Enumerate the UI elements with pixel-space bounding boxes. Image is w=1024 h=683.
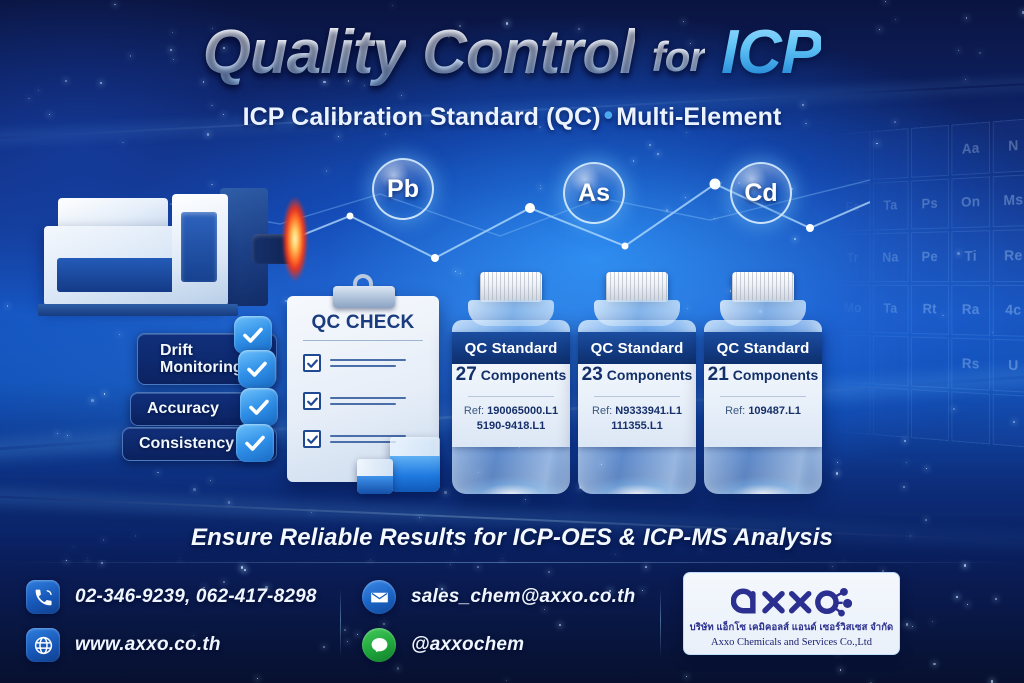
component-count-unit: Components — [607, 367, 693, 383]
periodic-cell — [836, 131, 871, 181]
periodic-cell: Rs — [951, 338, 990, 390]
phone-icon — [26, 580, 60, 614]
component-count-unit: Components — [733, 367, 819, 383]
periodic-cell — [911, 125, 949, 177]
subtitle-left: ICP Calibration Standard (QC) — [243, 103, 601, 131]
bottle-ref-line-1: Ref: 109487.L1 — [704, 404, 822, 419]
component-count-value: 23 — [582, 364, 603, 386]
bottle-label-2: QC Standard 23 Components Ref: N9333941.… — [578, 332, 696, 447]
title-word-control: Control — [422, 18, 635, 87]
periodic-cell: Fe — [836, 182, 871, 231]
bottle-label-header: QC Standard — [578, 332, 696, 364]
periodic-cell — [873, 387, 909, 438]
page-title: Quality Control for ICP — [0, 22, 1024, 84]
contact-email-text: sales_chem@axxo.co.th — [411, 586, 635, 608]
element-symbol-pb: Pb — [387, 175, 419, 204]
periodic-cell: Ti — [951, 230, 990, 281]
periodic-cell: Re — [993, 229, 1024, 282]
periodic-cell: Ms — [993, 174, 1024, 228]
bottle-label-header: QC Standard — [704, 332, 822, 364]
poster-canvas: AaNFeTaPsOnMsTrNaPeTiReMoTaRtRa4cRsU Qua… — [0, 0, 1024, 683]
logo-english-company-name: Axxo Chemicals and Services Co.,Ltd — [711, 637, 872, 648]
periodic-cell: Pe — [911, 231, 949, 281]
element-bubble-as: As — [563, 162, 625, 224]
contact-row-line[interactable]: @axxochem — [362, 628, 635, 662]
sample-vial-illustration — [357, 459, 393, 494]
instrument-base — [38, 304, 238, 316]
periodic-cell — [911, 337, 949, 388]
contact-website-text: www.axxo.co.th — [75, 634, 221, 656]
periodic-cell: Rt — [911, 284, 949, 334]
bottle-label-3: QC Standard 21 Components Ref: 109487.L1 — [704, 332, 822, 447]
footer-divider-1 — [340, 588, 341, 658]
clipboard-clip-icon — [333, 286, 395, 308]
tagline-band: Ensure Reliable Results for ICP-OES & IC… — [0, 516, 1024, 560]
axxo-logo-mark-icon — [731, 583, 852, 619]
qc-standard-bottle-1[interactable]: QC Standard 27 Components Ref: 190065000… — [452, 272, 570, 494]
feature-label-accuracy: Accuracy — [147, 400, 219, 418]
periodic-cell — [951, 391, 990, 445]
bottle-component-count: 27 Components — [452, 364, 570, 396]
clipboard-checklist-row — [303, 354, 406, 372]
bottle-reference-block: Ref: N9333941.L1 111355.L1 — [578, 397, 696, 434]
contact-phone-text: 02-346-9239, 062-417-8298 — [75, 586, 317, 608]
contact-column-right: sales_chem@axxo.co.th @axxochem — [362, 580, 635, 662]
periodic-cell: Ta — [873, 180, 909, 230]
subtitle-right: Multi-Element — [616, 103, 781, 131]
element-symbol-cd: Cd — [744, 179, 777, 208]
contact-column-left: 02-346-9239, 062-417-8298 www.axxo.co.th — [26, 580, 317, 662]
bottle-cap-icon — [606, 272, 668, 302]
component-count-value: 21 — [708, 364, 729, 386]
clipboard-title: QC CHECK — [287, 312, 439, 334]
periodic-cell: Ra — [951, 284, 990, 335]
component-count-value: 27 — [456, 364, 477, 386]
logo-thai-company-name: บริษัท แอ็กโซ เคมิคอลส์ แอนด์ เซอร์วิสเซ… — [690, 620, 894, 635]
ref-prefix: Ref: — [464, 405, 484, 417]
title-word-icp: ICP — [721, 18, 821, 87]
checklist-text-lines — [330, 397, 406, 405]
checkbox-icon — [303, 354, 321, 372]
qc-standard-bottle-2[interactable]: QC Standard 23 Components Ref: N9333941.… — [578, 272, 696, 494]
contact-row-website[interactable]: www.axxo.co.th — [26, 628, 317, 662]
bottle-label-1: QC Standard 27 Components Ref: 190065000… — [452, 332, 570, 447]
element-symbol-as: As — [578, 179, 610, 208]
envelope-icon — [362, 580, 396, 614]
bottle-label-header: QC Standard — [452, 332, 570, 364]
title-block: Quality Control for ICP ICP Calibration … — [0, 22, 1024, 132]
feature-label-consistency: Consistency — [139, 435, 234, 453]
periodic-cell — [836, 334, 871, 383]
qc-standard-bottle-3[interactable]: QC Standard 21 Components Ref: 109487.L1 — [704, 272, 822, 494]
checklist-text-lines — [330, 359, 406, 367]
checkbox-icon — [303, 430, 321, 448]
component-count-unit: Components — [481, 367, 567, 383]
checkmark-icon-1 — [234, 316, 272, 354]
icp-instrument-illustration — [24, 188, 314, 338]
bottle-reference-block: Ref: 109487.L1 — [704, 397, 822, 419]
bottle-ref-line-1: Ref: 190065000.L1 — [452, 404, 570, 419]
title-word-quality: Quality — [203, 18, 406, 87]
beaker-illustration — [390, 437, 440, 492]
clipboard-divider — [303, 340, 423, 341]
element-bubble-pb: Pb — [372, 158, 434, 220]
subtitle-bullet-icon: • — [601, 100, 617, 130]
ref-value-1: 190065000.L1 — [487, 405, 558, 417]
tagline-text: Ensure Reliable Results for ICP-OES & IC… — [191, 524, 833, 552]
periodic-cell: Ps — [911, 178, 949, 229]
periodic-cell: Tr — [836, 233, 871, 281]
contact-line-text: @axxochem — [411, 634, 524, 656]
periodic-cell: On — [951, 176, 990, 228]
ref-prefix: Ref: — [592, 405, 612, 417]
bottle-reference-block: Ref: 190065000.L1 5190-9418.L1 — [452, 397, 570, 434]
periodic-cell — [993, 393, 1024, 448]
line-chat-icon — [362, 628, 396, 662]
page-subtitle: ICP Calibration Standard (QC)•Multi-Elem… — [0, 100, 1024, 132]
periodic-cell: Na — [873, 232, 909, 281]
periodic-cell: Ta — [873, 284, 909, 333]
clipboard-checklist-row — [303, 392, 406, 410]
contact-row-phone[interactable]: 02-346-9239, 062-417-8298 — [26, 580, 317, 614]
bottle-component-count: 21 Components — [704, 364, 822, 396]
ref-prefix: Ref: — [725, 405, 745, 417]
bottle-component-count: 23 Components — [578, 364, 696, 396]
feature-label-monitoring: Monitoring — [160, 359, 243, 376]
element-bubble-cd: Cd — [730, 162, 792, 224]
title-word-for: for — [652, 33, 705, 80]
checkmark-icon-3 — [240, 388, 278, 426]
checkmark-icon-2 — [238, 350, 276, 388]
periodic-cell: Mo — [836, 284, 871, 332]
bottle-ref-line-2: 111355.L1 — [578, 419, 696, 434]
periodic-cell: U — [993, 339, 1024, 393]
checkbox-icon — [303, 392, 321, 410]
instrument-display-panel — [172, 194, 228, 306]
periodic-cell — [873, 128, 909, 179]
bottle-ref-line-1: Ref: N9333941.L1 — [578, 404, 696, 419]
bottle-cap-icon — [480, 272, 542, 302]
periodic-table-background: AaNFeTaPsOnMsTrNaPeTiReMoTaRtRa4cRsU — [836, 118, 1024, 448]
bottle-cap-icon — [732, 272, 794, 302]
periodic-cell — [873, 335, 909, 385]
feature-label-drift: Drift — [160, 342, 243, 359]
plasma-flame-icon — [282, 196, 308, 282]
periodic-cell — [836, 384, 871, 434]
ref-value-1: N9333941.L1 — [615, 405, 682, 417]
ref-value-1: 109487.L1 — [748, 405, 801, 417]
contact-row-email[interactable]: sales_chem@axxo.co.th — [362, 580, 635, 614]
periodic-cell: 4c — [993, 284, 1024, 337]
company-logo-card[interactable]: บริษัท แอ็กโซ เคมิคอลส์ แอนด์ เซอร์วิสเซ… — [683, 572, 900, 655]
footer-divider-2 — [660, 588, 661, 658]
globe-icon — [26, 628, 60, 662]
bottle-ref-line-2: 5190-9418.L1 — [452, 419, 570, 434]
checkmark-icon-4 — [236, 424, 274, 462]
periodic-cell — [911, 389, 949, 441]
tagline-divider — [0, 562, 1024, 563]
